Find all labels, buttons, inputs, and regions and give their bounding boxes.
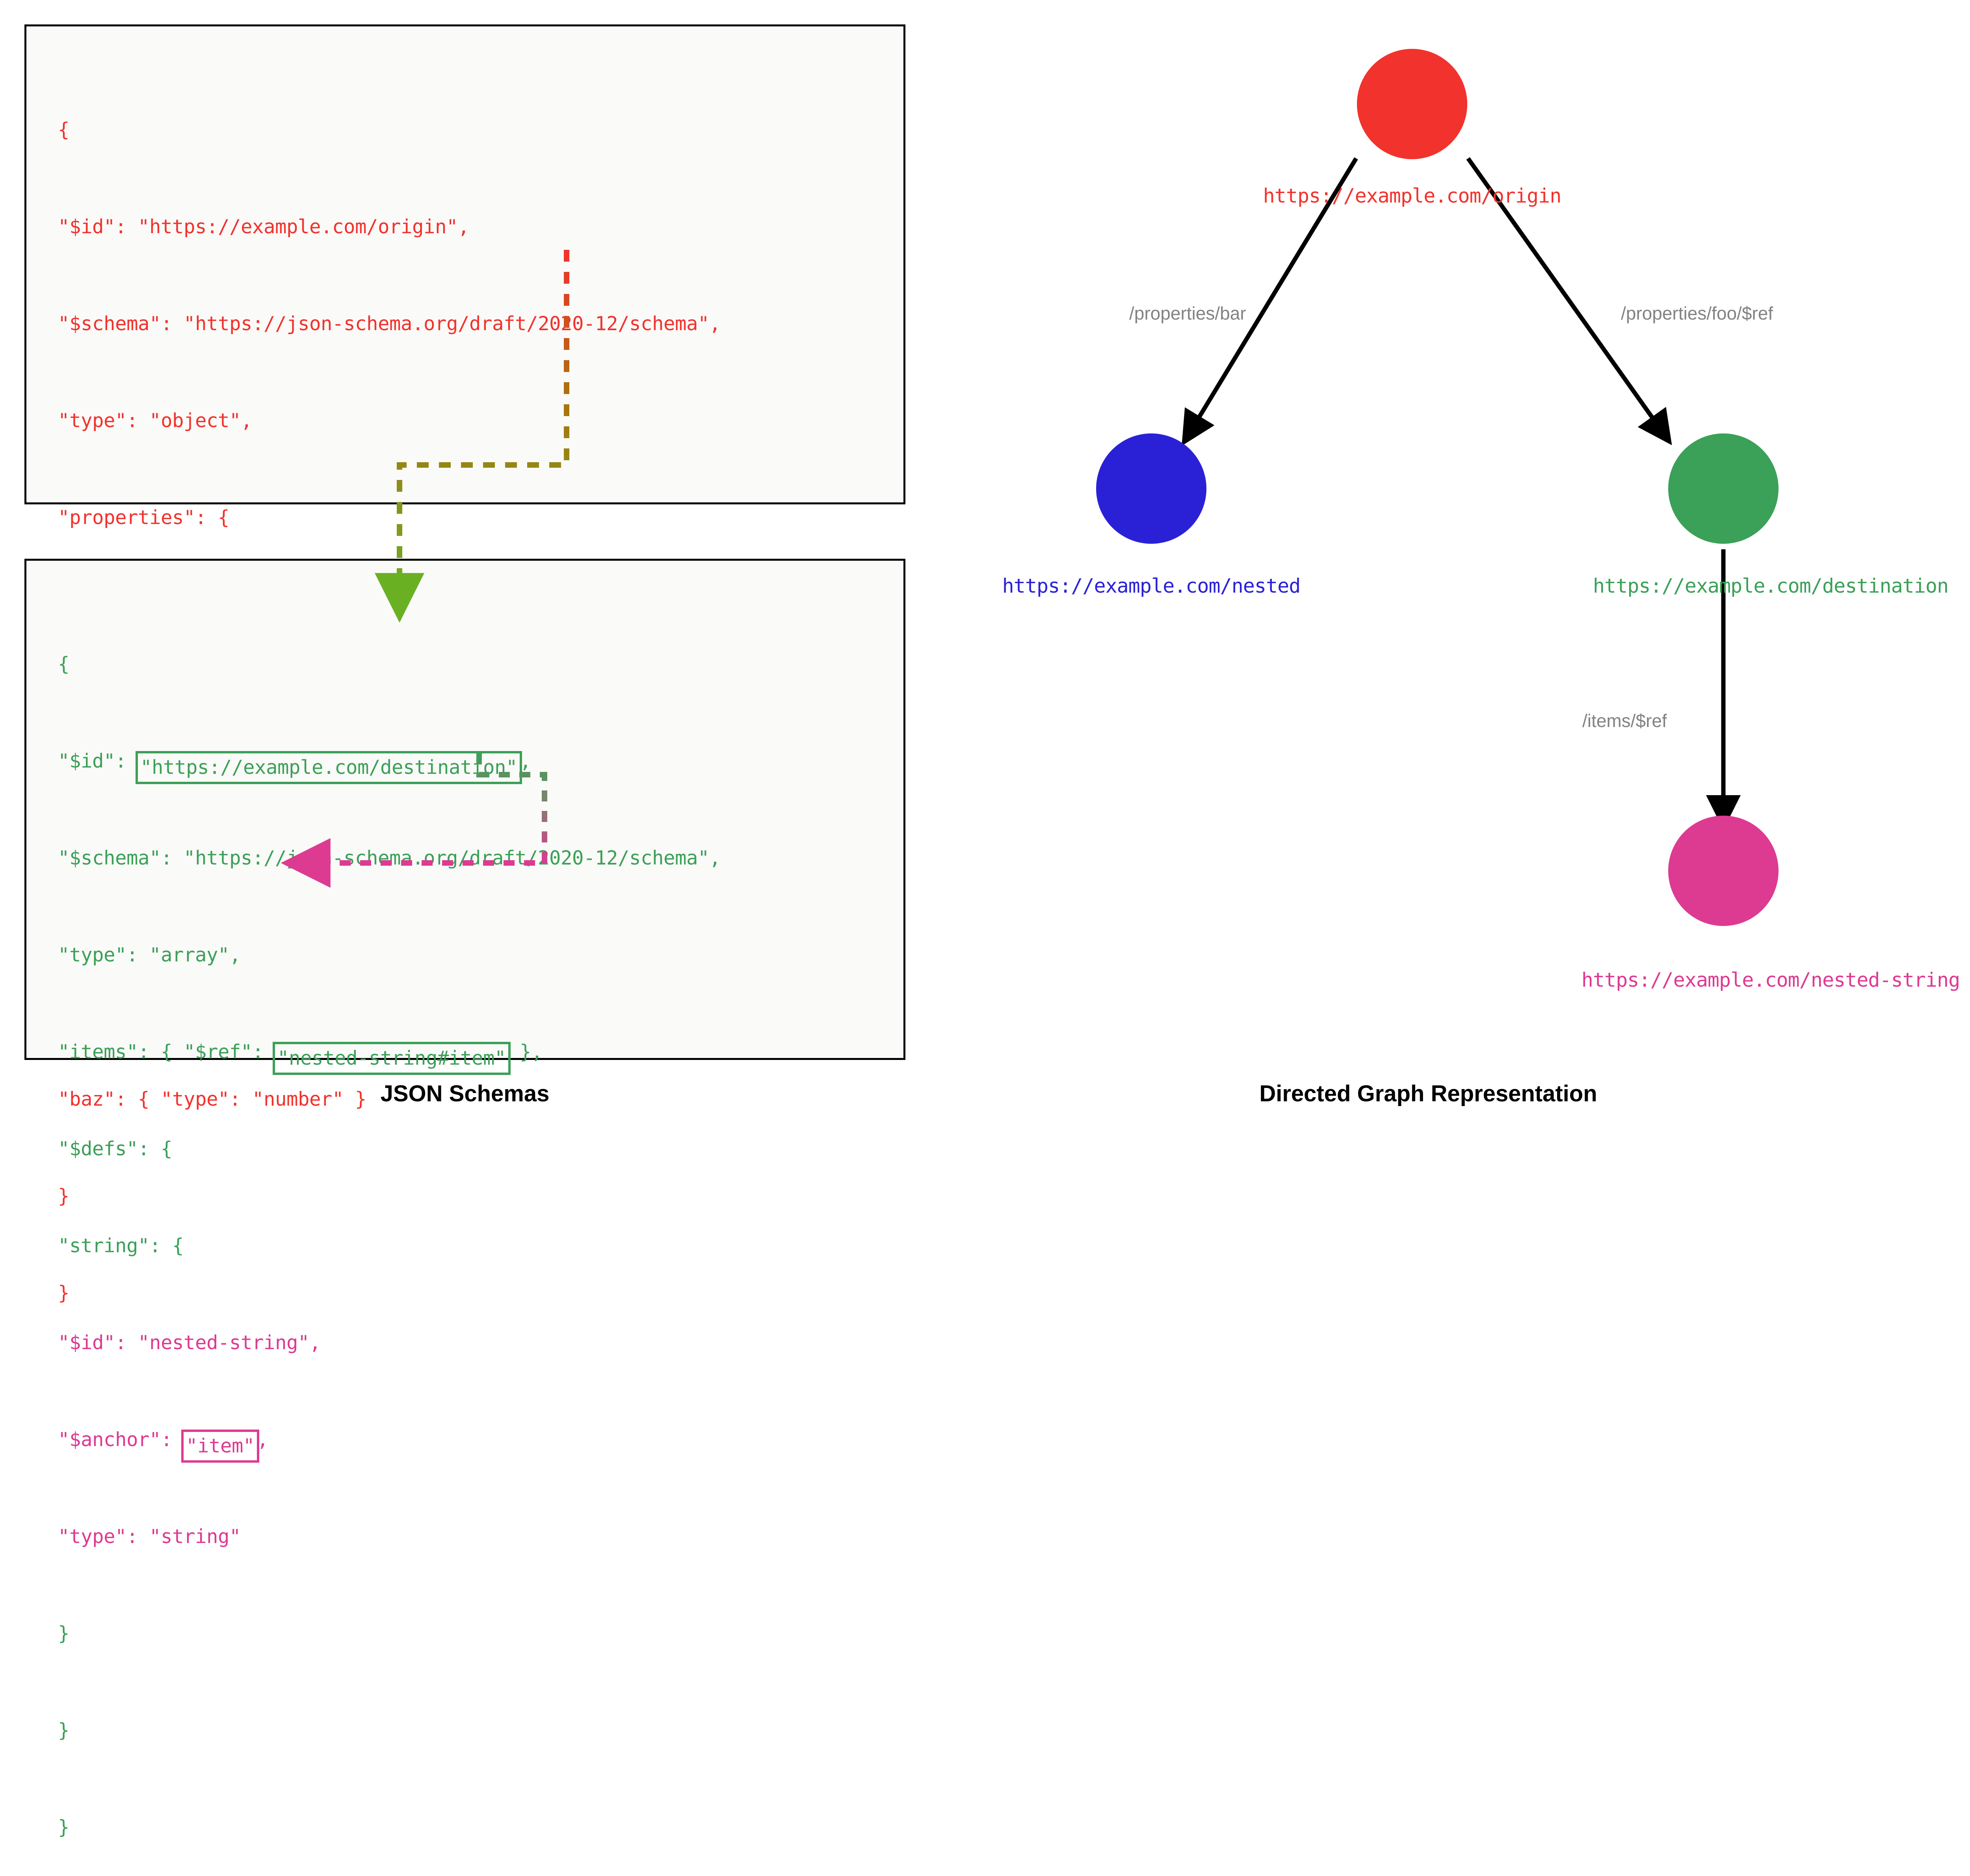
ref-nested-string-highlight: "nested-string#item" xyxy=(273,1042,511,1075)
code-text: } xyxy=(58,1622,69,1645)
graph-node-label-destination: https://example.com/destination xyxy=(1408,575,1970,597)
json-schema-origin-panel: { "$id": "https://example.com/origin", "… xyxy=(24,24,905,504)
code-line: "$schema": "https://json-schema.org/draf… xyxy=(58,308,903,340)
code-line: "$schema": "https://json-schema.org/draf… xyxy=(58,842,903,874)
code-line: "type": "object", xyxy=(58,405,903,437)
code-text: "$id": "nested-string", xyxy=(58,1331,321,1354)
code-text: "$id": "https://example.com/origin", xyxy=(58,216,469,238)
graph-edge-label-properties-foo-ref: /properties/foo/$ref xyxy=(1621,303,1773,324)
code-text: "items": { "$ref": xyxy=(58,1041,275,1063)
code-text: } xyxy=(58,1719,69,1742)
code-text: "type": "object", xyxy=(58,409,252,432)
code-line: "string": { xyxy=(58,1230,903,1262)
code-line: } xyxy=(58,1714,903,1747)
code-text: } xyxy=(58,1185,69,1207)
graph-node-nested[interactable] xyxy=(1096,433,1206,544)
json-schema-destination-panel: { "$id": "https://example.com/destinatio… xyxy=(24,559,905,1060)
code-text: }, xyxy=(508,1041,543,1063)
code-line: } xyxy=(58,1277,903,1309)
code-line-items-ref: "items": { "$ref": "nested-string#item" … xyxy=(58,1036,903,1068)
code-text: "$defs": { xyxy=(58,1138,172,1160)
code-text: "$schema": "https://json-schema.org/draf… xyxy=(58,847,721,869)
code-text: "$anchor": xyxy=(58,1428,184,1451)
code-text: { xyxy=(58,653,69,675)
code-line: { xyxy=(58,648,903,680)
graph-edge-label-items-ref: /items/$ref xyxy=(1582,710,1667,731)
graph-node-label-nested: https://example.com/nested xyxy=(856,575,1447,597)
code-line: "$defs": { xyxy=(58,1133,903,1165)
code-line: } xyxy=(58,1811,903,1844)
caption-json-schemas: JSON Schemas xyxy=(0,1080,930,1107)
code-text: "$id": xyxy=(58,750,138,772)
id-destination-highlight: "https://example.com/destination" xyxy=(136,751,522,784)
graph-node-destination[interactable] xyxy=(1668,433,1779,544)
caption-directed-graph: Directed Graph Representation xyxy=(946,1080,1911,1107)
code-line: "properties": { xyxy=(58,502,903,534)
code-line: "$id": "nested-string", xyxy=(58,1327,903,1359)
code-text: "$schema": "https://json-schema.org/draf… xyxy=(58,312,721,335)
graph-node-nested-string[interactable] xyxy=(1668,816,1779,926)
code-text: } xyxy=(58,1282,69,1304)
code-line-anchor: "$anchor": "item", xyxy=(58,1424,903,1456)
code-line: } xyxy=(58,1180,903,1212)
code-text: "type": "string" xyxy=(58,1525,241,1548)
anchor-item-highlight: "item" xyxy=(181,1430,259,1463)
graph-node-label-nested-string: https://example.com/nested-string xyxy=(1408,969,1970,991)
code-line: "type": "array", xyxy=(58,939,903,971)
code-line-id-destination: "$id": "https://example.com/destination"… xyxy=(58,745,903,777)
graph-edge-label-properties-bar: /properties/bar xyxy=(1129,303,1246,324)
code-line: "type": "string" xyxy=(58,1521,903,1553)
graph-node-label-origin: https://example.com/origin xyxy=(1136,184,1688,207)
code-line: } xyxy=(58,1618,903,1650)
code-text: } xyxy=(58,1816,69,1839)
code-line: { xyxy=(58,114,903,146)
code-text: "type": "array", xyxy=(58,944,241,966)
code-text: "properties": { xyxy=(58,506,229,529)
graph-node-origin[interactable] xyxy=(1357,49,1467,159)
code-line: "$id": "https://example.com/origin", xyxy=(58,211,903,243)
code-text: "string": { xyxy=(58,1235,184,1257)
